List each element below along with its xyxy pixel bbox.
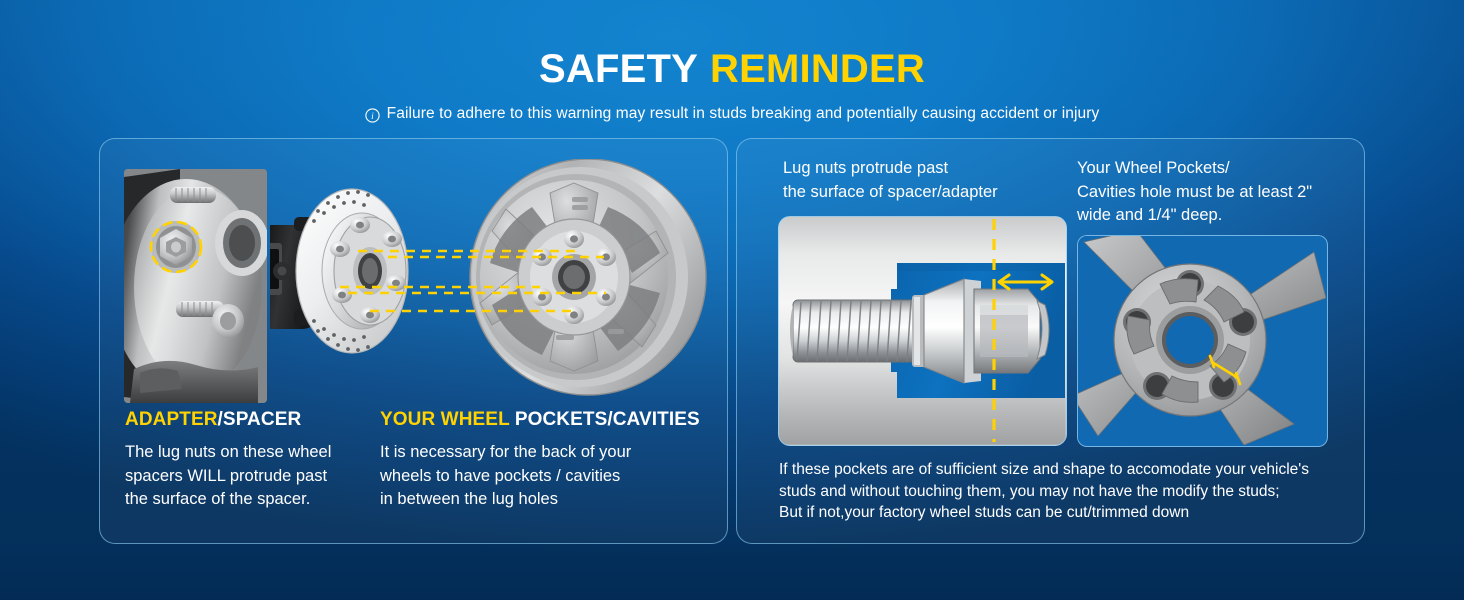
caption-adapter-spacer-body: The lug nuts on these wheel spacers WILL… <box>125 441 331 512</box>
info-circle-icon: i <box>365 108 380 123</box>
heading-wheel-pockets-spec: Your Wheel Pockets/ Cavities hole must b… <box>1077 157 1352 228</box>
page-title: SAFETYREMINDER <box>0 49 1464 89</box>
caption-adapter-spacer-title: ADAPTER/SPACER <box>125 409 331 431</box>
caption-your-wheel-pockets: YOUR WHEEL POCKETS/CAVITIES It is necess… <box>380 409 700 512</box>
caption-your-wheel-title: YOUR WHEEL POCKETS/CAVITIES <box>380 409 700 431</box>
caption-a-title-white: /SPACER <box>218 409 302 430</box>
exploded-wheel-diagram <box>270 159 710 409</box>
title-word-reminder: REMINDER <box>710 47 925 91</box>
caption-your-wheel-body: It is necessary for the back of your whe… <box>380 441 700 512</box>
subtitle-row: i Failure to adhere to this warning may … <box>0 105 1464 123</box>
header: SAFETYREMINDER i Failure to adhere to th… <box>0 0 1464 123</box>
adapter-spacer-panel: HS-2E0116 ADAPTER <box>99 138 728 544</box>
hub-spacer-photo: HS-2E0116 ADAPTER <box>124 169 267 403</box>
caption-b-title-white: POCKETS/CAVITIES <box>509 409 699 430</box>
title-word-safety: SAFETY <box>539 47 698 91</box>
subtitle-text: Failure to adhere to this warning may re… <box>387 105 1100 123</box>
footer-note: If these pockets are of sufficient size … <box>779 459 1339 524</box>
lug-bolt-cross-section-illustration <box>778 216 1067 446</box>
wheel-back-pockets-photo <box>1077 235 1328 447</box>
wheel-pockets-panel: Lug nuts protrude past the surface of sp… <box>736 138 1365 544</box>
svg-text:i: i <box>371 112 374 122</box>
caption-b-title-yellow: YOUR WHEEL <box>380 409 509 430</box>
caption-a-title-yellow: ADAPTER <box>125 409 218 430</box>
heading-lug-nuts-protrude: Lug nuts protrude past the surface of sp… <box>783 157 1073 204</box>
safety-reminder-banner: SAFETYREMINDER i Failure to adhere to th… <box>0 0 1464 600</box>
caption-adapter-spacer: ADAPTER/SPACER The lug nuts on these whe… <box>125 409 331 512</box>
